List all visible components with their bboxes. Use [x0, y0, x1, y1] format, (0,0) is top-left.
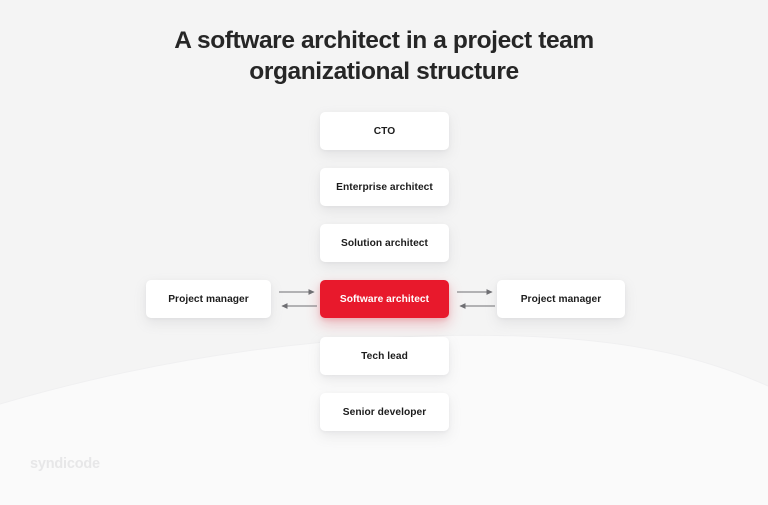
node-label: Software architect: [340, 294, 429, 305]
connector-right-bidirectional-arrows: [455, 283, 497, 315]
page-title-line-1: A software architect in a project team: [0, 25, 768, 56]
connector-left-bidirectional-arrows: [277, 283, 319, 315]
node-project-manager-right[interactable]: Project manager: [497, 280, 625, 318]
page-title-line-2: organizational structure: [0, 56, 768, 87]
page-title: A software architect in a project team o…: [0, 25, 768, 88]
node-label: CTO: [374, 126, 395, 137]
node-cto[interactable]: CTO: [320, 112, 449, 150]
syndicode-logo-watermark: syndicode: [30, 456, 100, 472]
node-enterprise-architect[interactable]: Enterprise architect: [320, 168, 449, 206]
node-label: Tech lead: [361, 351, 408, 362]
node-label: Enterprise architect: [336, 182, 433, 193]
watermark-label: syndicode: [30, 456, 100, 472]
node-solution-architect[interactable]: Solution architect: [320, 224, 449, 262]
node-label: Project manager: [521, 294, 602, 305]
node-label: Project manager: [168, 294, 249, 305]
node-tech-lead[interactable]: Tech lead: [320, 337, 449, 375]
node-label: Senior developer: [343, 407, 426, 418]
node-senior-developer[interactable]: Senior developer: [320, 393, 449, 431]
node-software-architect[interactable]: Software architect: [320, 280, 449, 318]
node-project-manager-left[interactable]: Project manager: [146, 280, 271, 318]
node-label: Solution architect: [341, 238, 428, 249]
